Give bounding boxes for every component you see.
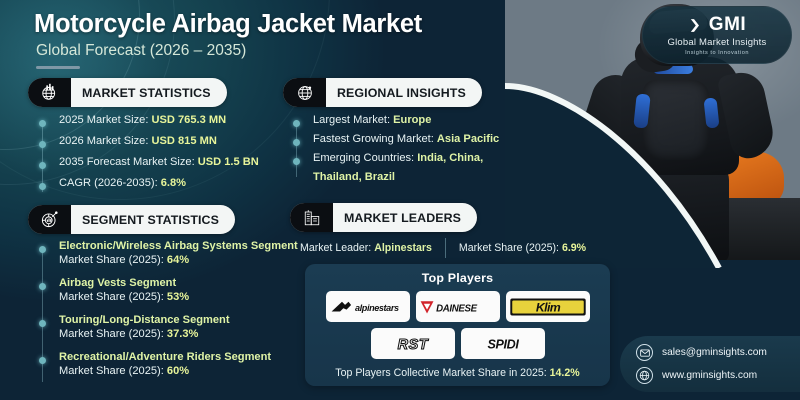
collective-share-text: Top Players Collective Market Share in 2… — [305, 367, 610, 379]
bullet-dot — [39, 120, 46, 127]
segment-name: Recreational/Adventure Riders Segment — [59, 351, 304, 363]
list-item: Fastest Growing Market: Asia Pacific — [296, 133, 526, 145]
item-label: Market Share (2025): — [59, 365, 167, 377]
envelope-icon — [636, 344, 653, 361]
item-label: 2026 Market Size: — [59, 135, 152, 147]
svg-text:RST: RST — [397, 337, 428, 353]
top-players-title: Top Players — [305, 264, 610, 285]
market-leader-row: Market Leader: Alpinestars Market Share … — [300, 238, 600, 258]
segment-name: Airbag Vests Segment — [59, 277, 304, 289]
section-label: MARKET STATISTICS — [71, 86, 227, 100]
infographic-root: Motorcycle Airbag Jacket Market Global F… — [0, 0, 800, 400]
factory-icon — [290, 203, 333, 232]
list-item: Recreational/Adventure Riders Segment Ma… — [42, 351, 304, 377]
svg-text:DAINESE: DAINESE — [436, 303, 478, 314]
contact-email[interactable]: sales@gminsights.com — [662, 347, 767, 358]
globe-icon — [283, 78, 326, 107]
player-logo-klim: Klim — [506, 291, 590, 322]
contact-website[interactable]: www.gminsights.com — [662, 370, 757, 381]
item-value: 37.3% — [167, 328, 198, 340]
list-item: Touring/Long-Distance Segment Market Sha… — [42, 314, 304, 340]
contact-website-row[interactable]: www.gminsights.com — [636, 367, 800, 384]
globe-chart-icon — [28, 78, 71, 107]
item-label: Market Leader: — [300, 242, 374, 254]
regional-insights-list: Largest Market: Europe Fastest Growing M… — [296, 114, 526, 183]
list-item: 2025 Market Size: USD 765.3 MN — [42, 114, 292, 126]
rst-logo-icon: RST — [377, 334, 449, 354]
dainese-logo-icon: DAINESE — [418, 297, 498, 317]
item-value: USD 765.3 MN — [152, 114, 227, 126]
bullet-dot — [39, 283, 46, 290]
list-item: 2026 Market Size: USD 815 MN — [42, 135, 292, 147]
bullet-dot — [293, 158, 300, 165]
player-logo-alpinestars: alpinestars — [326, 291, 410, 322]
page-title: Motorcycle Airbag Jacket Market — [34, 10, 422, 39]
item-label: Fastest Growing Market: — [313, 133, 437, 145]
player-logo-rst: RST — [371, 328, 455, 359]
item-label: Largest Market: — [313, 114, 393, 126]
list-item: Electronic/Wireless Airbag Systems Segme… — [42, 240, 304, 266]
contact-panel: sales@gminsights.com www.gminsights.com — [620, 336, 800, 392]
item-value: 60% — [167, 365, 189, 377]
segment-statistics-list: Electronic/Wireless Airbag Systems Segme… — [42, 240, 304, 388]
item-label: Market Share (2025): — [59, 328, 167, 340]
player-logo-spidi: SPIDI — [461, 328, 545, 359]
pie-chart-icon — [28, 205, 71, 234]
item-label: Emerging Countries: — [313, 152, 417, 164]
item-value: USD 815 MN — [152, 135, 217, 147]
gmi-logo: GMI Global Market Insights Insights to I… — [642, 6, 792, 64]
item-label: Market Share (2025): — [459, 242, 562, 254]
list-item: Emerging Countries: India, China, — [296, 152, 526, 164]
item-label: Market Share (2025): — [59, 291, 167, 303]
section-label: SEGMENT STATISTICS — [71, 213, 235, 227]
bullet-dot — [39, 162, 46, 169]
section-header-segment-statistics: SEGMENT STATISTICS — [28, 205, 235, 234]
list-item: 2035 Forecast Market Size: USD 1.5 BN — [42, 156, 292, 168]
gmi-logo-fullname: Global Market Insights — [668, 37, 767, 48]
segment-name: Touring/Long-Distance Segment — [59, 314, 304, 326]
item-value: Asia Pacific — [437, 133, 499, 145]
section-header-market-leaders: MARKET LEADERS — [290, 203, 477, 232]
item-value: 53% — [167, 291, 189, 303]
section-header-market-statistics: MARKET STATISTICS — [28, 78, 227, 107]
gmi-mark-icon — [688, 17, 705, 34]
item-value: USD 1.5 BN — [198, 156, 259, 168]
market-share-item: Market Share (2025): 6.9% — [459, 242, 586, 254]
title-divider — [36, 66, 80, 69]
list-rail — [296, 120, 297, 177]
divider — [445, 238, 446, 258]
list-item: Largest Market: Europe — [296, 114, 526, 126]
item-value-line2: Thailand, Brazil — [296, 171, 526, 183]
bullet-dot — [39, 357, 46, 364]
top-players-logo-grid: alpinestars DAINESE Klim RS — [305, 291, 610, 359]
alpinestars-logo-icon: alpinestars — [329, 297, 407, 317]
section-header-regional-insights: REGIONAL INSIGHTS — [283, 78, 482, 107]
market-leader-item: Market Leader: Alpinestars — [300, 242, 432, 254]
item-value: 6.9% — [562, 242, 586, 254]
spidi-logo-icon: SPIDI — [466, 334, 540, 354]
item-label: CAGR (2026-2035): — [59, 177, 161, 189]
svg-text:SPIDI: SPIDI — [487, 337, 519, 351]
segment-name: Electronic/Wireless Airbag Systems Segme… — [59, 240, 304, 252]
item-value: India, China, — [417, 152, 483, 164]
svg-text:alpinestars: alpinestars — [355, 302, 399, 312]
bullet-dot — [293, 139, 300, 146]
item-value: 6.8% — [161, 177, 186, 189]
bullet-dot — [39, 246, 46, 253]
item-value: Alpinestars — [374, 242, 432, 254]
gmi-logo-name: GMI — [709, 14, 746, 36]
klim-logo-icon: Klim — [509, 296, 587, 318]
bullet-dot — [39, 141, 46, 148]
item-label: 2025 Market Size: — [59, 114, 152, 126]
page-subtitle: Global Forecast (2026 – 2035) — [36, 42, 246, 60]
section-label: MARKET LEADERS — [333, 211, 477, 225]
top-players-card: Top Players alpinestars DAINESE — [305, 264, 610, 386]
item-value: Europe — [393, 114, 431, 126]
item-value: 64% — [167, 254, 189, 266]
section-label: REGIONAL INSIGHTS — [326, 86, 482, 100]
gmi-logo-tagline: Insights to Innovation — [685, 50, 749, 56]
collective-label: Top Players Collective Market Share in 2… — [335, 367, 549, 379]
player-logo-dainese: DAINESE — [416, 291, 500, 322]
contact-email-row[interactable]: sales@gminsights.com — [636, 344, 800, 361]
svg-text:Klim: Klim — [535, 300, 560, 314]
item-label: Market Share (2025): — [59, 254, 167, 266]
item-label: 2035 Forecast Market Size: — [59, 156, 198, 168]
bullet-dot — [39, 183, 46, 190]
market-statistics-list: 2025 Market Size: USD 765.3 MN 2026 Mark… — [42, 114, 292, 198]
globe-icon — [636, 367, 653, 384]
list-item: Airbag Vests Segment Market Share (2025)… — [42, 277, 304, 303]
bullet-dot — [39, 320, 46, 327]
collective-value: 14.2% — [550, 367, 580, 379]
bullet-dot — [293, 120, 300, 127]
list-item: CAGR (2026-2035): 6.8% — [42, 177, 292, 189]
